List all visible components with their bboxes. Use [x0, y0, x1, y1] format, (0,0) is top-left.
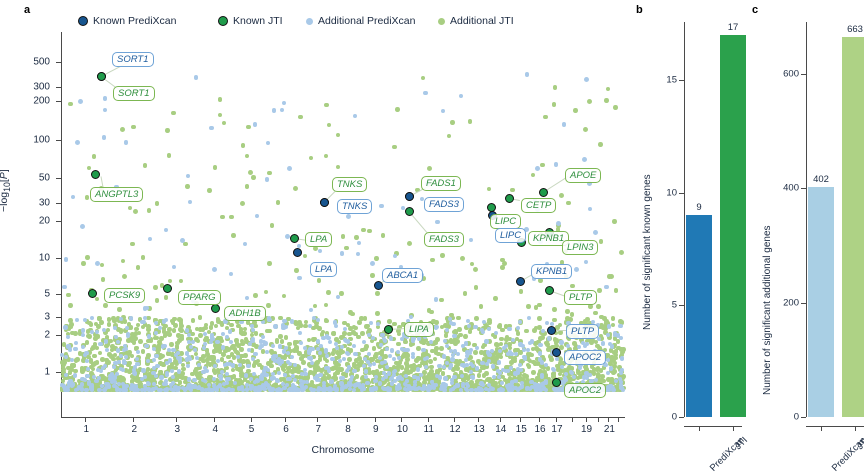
- scatter-point: [459, 94, 463, 98]
- known-gene-point-lipa: [384, 325, 393, 334]
- scatter-point: [588, 304, 593, 309]
- scatter-point: [167, 348, 171, 352]
- scatter-point: [553, 85, 558, 90]
- scatter-point: [406, 353, 411, 358]
- scatter-point: [562, 122, 566, 126]
- known-gene-point-pcsk9: [88, 289, 97, 298]
- scatter-point: [609, 366, 613, 370]
- scatter-point: [191, 318, 196, 323]
- scatter-point: [282, 294, 287, 299]
- scatter-point: [277, 387, 281, 391]
- scatter-point: [307, 349, 311, 353]
- scatter-point: [559, 340, 563, 344]
- scatter-point-outlier: [407, 241, 412, 246]
- scatter-point: [621, 347, 626, 352]
- scatter-point-outlier: [240, 201, 245, 206]
- scatter-point: [117, 307, 122, 312]
- scatter-point: [303, 372, 307, 376]
- scatter-point: [385, 347, 389, 351]
- scatter-point: [126, 332, 130, 336]
- gene-label-apoe-jti: APOE: [565, 168, 601, 183]
- scatter-point: [339, 381, 343, 385]
- scatter-point: [387, 319, 392, 324]
- scatter-point: [519, 289, 524, 294]
- panel-a-manhattan-plot: a Known PrediXcanKnown JTIAdditional Pre…: [0, 0, 632, 469]
- scatter-point: [81, 261, 86, 266]
- scatter-point: [204, 336, 209, 341]
- scatter-point: [102, 135, 106, 139]
- scatter-point: [597, 288, 602, 293]
- x-axis-tick-label: 21: [604, 424, 615, 435]
- scatter-point: [130, 242, 135, 247]
- scatter-point: [241, 143, 246, 148]
- scatter-point: [363, 316, 368, 321]
- gene-label-tnks-jti: TNKS: [332, 177, 367, 192]
- scatter-point-outlier: [212, 267, 217, 272]
- scatter-point: [155, 364, 159, 368]
- gene-label-pltp-px: PLTP: [566, 324, 599, 339]
- scatter-point: [237, 367, 242, 372]
- legend-label: Known PrediXcan: [93, 15, 176, 27]
- bar-jti[interactable]: [842, 37, 864, 417]
- y-axis-tick: [56, 87, 61, 88]
- scatter-point: [529, 353, 534, 358]
- scatter-point: [188, 357, 192, 361]
- scatter-point: [417, 386, 421, 390]
- scatter-point: [330, 357, 334, 361]
- scatter-point: [298, 331, 302, 335]
- scatter-point: [244, 373, 248, 377]
- scatter-point: [81, 333, 85, 337]
- scatter-point: [290, 355, 294, 359]
- y-axis-tick: [679, 305, 684, 306]
- y-axis-tick: [56, 258, 61, 259]
- scatter-point: [97, 316, 102, 321]
- scatter-point: [94, 379, 98, 383]
- scatter-point: [71, 363, 76, 368]
- gene-label-fads1-jti: FADS1: [421, 176, 461, 191]
- scatter-point: [367, 229, 372, 234]
- x-axis-tick: [598, 417, 599, 422]
- scatter-point: [243, 327, 248, 332]
- scatter-point: [516, 326, 520, 330]
- scatter-point: [497, 324, 502, 329]
- scatter-point: [516, 331, 521, 336]
- scatter-point: [105, 348, 109, 352]
- scatter-point: [253, 293, 258, 298]
- scatter-point: [92, 354, 97, 359]
- scatter-point: [143, 306, 147, 310]
- x-axis-tick: [478, 417, 479, 422]
- scatter-point: [378, 356, 382, 360]
- scatter-point: [299, 341, 303, 345]
- legend-item-known-jti: Known JTI: [218, 12, 283, 30]
- scatter-point-outlier: [584, 77, 589, 82]
- known-gene-point-adh1b: [211, 304, 220, 313]
- scatter-point: [249, 377, 253, 381]
- scatter-point: [229, 215, 234, 220]
- scatter-point: [553, 387, 557, 391]
- scatter-point: [356, 335, 361, 340]
- scatter-point: [363, 357, 367, 361]
- scatter-point: [619, 336, 623, 340]
- scatter-point: [153, 336, 158, 341]
- x-axis-tick: [855, 426, 856, 431]
- scatter-point: [336, 165, 341, 170]
- scatter-point: [121, 388, 125, 392]
- bar-value-label-predixcan: 9: [696, 202, 701, 213]
- scatter-point: [518, 363, 522, 367]
- scatter-point: [618, 324, 622, 328]
- scatter-point: [309, 156, 314, 161]
- bar-value-label-predixcan: 402: [813, 174, 829, 185]
- x-axis-title-a: Chromosome: [311, 444, 374, 456]
- legend-item-add-px: Additional PrediXcan: [306, 12, 415, 30]
- scatter-point-outlier: [120, 127, 125, 132]
- scatter-point: [210, 335, 214, 339]
- scatter-point: [164, 295, 169, 300]
- scatter-point: [555, 357, 559, 361]
- y-axis-title-c: Number of significant additional genes: [762, 225, 773, 395]
- scatter-point: [220, 370, 224, 374]
- scatter-point: [173, 323, 178, 328]
- scatter-point: [175, 341, 180, 346]
- scatter-point: [396, 342, 401, 347]
- scatter-point: [213, 364, 217, 368]
- bar-jti[interactable]: [720, 35, 746, 417]
- scatter-point: [536, 387, 540, 391]
- scatter-point: [148, 237, 152, 241]
- scatter-point: [429, 365, 434, 370]
- known-gene-point-abca1: [374, 281, 383, 290]
- scatter-point: [409, 342, 414, 347]
- scatter-point: [264, 290, 269, 295]
- y-axis-tick-label: 10: [0, 253, 50, 264]
- scatter-point: [253, 352, 257, 356]
- x-axis-tick: [618, 417, 619, 422]
- scatter-point: [75, 318, 79, 322]
- x-axis-line-a: [61, 417, 625, 418]
- gene-label-pparg-jti: PPARG: [178, 290, 221, 305]
- scatter-point: [464, 358, 468, 362]
- scatter-point: [85, 255, 90, 260]
- x-axis-tick-label: 11: [424, 424, 434, 435]
- scatter-point: [64, 355, 68, 359]
- scatter-point: [179, 351, 184, 356]
- scatter-point: [269, 388, 273, 392]
- scatter-point: [155, 298, 160, 303]
- scatter-point: [509, 360, 514, 365]
- scatter-point: [98, 342, 102, 346]
- scatter-point: [318, 373, 322, 377]
- scatter-point: [265, 177, 269, 181]
- scatter-point: [269, 363, 274, 368]
- scatter-point: [191, 340, 195, 344]
- scatter-point: [460, 374, 464, 378]
- scatter-point: [230, 388, 234, 392]
- y-axis-tick-label: 200: [0, 96, 50, 107]
- scatter-point: [63, 325, 67, 329]
- scatter-point: [294, 368, 299, 373]
- scatter-point: [397, 356, 401, 360]
- scatter-point: [338, 359, 342, 363]
- scatter-point: [157, 388, 161, 392]
- scatter-point: [160, 354, 165, 359]
- bar-predixcan[interactable]: [686, 215, 712, 417]
- scatter-point: [487, 320, 492, 325]
- known-gene-point-apoc2: [552, 378, 561, 387]
- y-axis-tick-label: 100: [0, 135, 50, 146]
- scatter-point: [434, 325, 438, 329]
- gene-label-lipa-jti: LIPA: [404, 322, 434, 337]
- scatter-point: [282, 386, 286, 390]
- scatter-point: [73, 373, 77, 377]
- bar-predixcan[interactable]: [808, 187, 834, 417]
- scatter-point: [167, 153, 172, 158]
- scatter-point: [416, 356, 421, 361]
- scatter-point: [468, 355, 473, 360]
- scatter-point-outlier: [293, 186, 298, 191]
- scatter-point: [426, 388, 430, 392]
- y-axis-tick-label: 3: [0, 312, 50, 323]
- scatter-point: [494, 331, 498, 335]
- scatter-point: [468, 329, 473, 334]
- scatter-point: [393, 369, 397, 373]
- scatter-point: [245, 154, 250, 159]
- scatter-point: [165, 371, 169, 375]
- scatter-point: [214, 324, 219, 329]
- scatter-point: [612, 369, 617, 374]
- known-gene-point-apoe: [539, 188, 548, 197]
- scatter-point: [124, 347, 128, 351]
- known-gene-point-fads3: [405, 207, 414, 216]
- scatter-point: [607, 324, 611, 328]
- scatter-point: [233, 381, 237, 385]
- scatter-point: [375, 311, 380, 316]
- scatter-point: [480, 328, 484, 332]
- scatter-point: [278, 334, 283, 339]
- x-axis-tick: [133, 417, 134, 422]
- scatter-point: [385, 365, 389, 369]
- x-axis-tick: [214, 417, 215, 422]
- scatter-point: [364, 324, 369, 329]
- scatter-point: [179, 279, 184, 284]
- bar-value-label-jti: 663: [847, 24, 863, 35]
- scatter-point: [318, 357, 323, 362]
- scatter-point: [531, 173, 536, 178]
- scatter-point: [612, 350, 617, 355]
- scatter-point: [234, 338, 239, 343]
- scatter-point: [279, 360, 283, 364]
- scatter-point: [178, 356, 182, 360]
- scatter-point: [212, 377, 216, 381]
- scatter-point: [354, 235, 359, 240]
- scatter-point: [469, 388, 473, 392]
- scatter-point: [520, 384, 524, 388]
- scatter-point: [136, 323, 141, 328]
- scatter-point: [364, 369, 368, 373]
- legend-label: Additional PrediXcan: [318, 15, 415, 27]
- panel-c-letter: c: [752, 4, 758, 16]
- scatter-point: [318, 351, 322, 355]
- scatter-point: [402, 348, 406, 352]
- y-axis-tick-label: 0: [766, 412, 799, 423]
- x-axis-tick: [733, 426, 734, 431]
- scatter-point: [281, 366, 286, 371]
- scatter-point: [554, 162, 558, 166]
- scatter-point: [613, 105, 618, 110]
- scatter-point: [282, 101, 286, 105]
- y-axis-tick: [56, 221, 61, 222]
- scatter-point: [152, 358, 156, 362]
- x-axis-tick: [454, 417, 455, 422]
- scatter-point: [577, 345, 581, 349]
- x-axis-tick-label: 5: [249, 424, 255, 435]
- known-gene-point-pltp: [545, 286, 554, 295]
- scatter-point: [494, 342, 499, 347]
- scatter-point: [440, 253, 445, 258]
- scatter-point: [210, 321, 215, 326]
- scatter-point: [430, 258, 435, 263]
- scatter-point: [106, 328, 111, 333]
- scatter-point: [83, 353, 87, 357]
- scatter-point-outlier: [574, 267, 579, 272]
- y-axis-tick: [56, 62, 61, 63]
- scatter-point: [453, 349, 457, 353]
- scatter-point: [484, 339, 488, 343]
- scatter-point: [243, 353, 248, 358]
- y-axis-tick: [56, 317, 61, 318]
- scatter-point: [525, 72, 529, 76]
- x-axis-tick: [572, 417, 573, 422]
- known-gene-point-angptl3: [91, 170, 100, 179]
- y-axis-tick: [679, 417, 684, 418]
- scatter-point: [540, 163, 545, 168]
- scatter-point: [317, 326, 322, 331]
- scatter-point: [570, 284, 575, 289]
- y-axis-tick: [801, 303, 806, 304]
- gene-label-fads3-px: FADS3: [424, 197, 464, 212]
- scatter-point: [379, 204, 383, 208]
- y-axis-tick-label: 20: [0, 216, 50, 227]
- legend: Known PrediXcanKnown JTIAdditional Predi…: [78, 12, 628, 30]
- scatter-point: [533, 341, 538, 346]
- scatter-point: [588, 373, 592, 377]
- scatter-point: [203, 342, 207, 346]
- scatter-point: [487, 187, 492, 192]
- scatter-point: [228, 329, 232, 333]
- scatter-point: [188, 384, 192, 388]
- scatter-point: [93, 336, 98, 341]
- scatter-point: [578, 366, 582, 370]
- scatter-point: [245, 184, 250, 189]
- scatter-point: [448, 317, 452, 321]
- scatter-point: [340, 345, 344, 349]
- x-axis-tick-label: 15: [516, 424, 527, 435]
- scatter-point-outlier: [502, 261, 507, 266]
- scatter-point: [484, 371, 489, 376]
- scatter-point: [588, 207, 592, 211]
- panel-c-additional-genes-bar: c 0200400600Number of significant additi…: [748, 0, 864, 469]
- scatter-point: [582, 375, 586, 379]
- scatter-point: [433, 357, 438, 362]
- scatter-point: [229, 272, 233, 276]
- x-axis-tick-label: 2: [131, 424, 137, 435]
- scatter-point: [542, 381, 546, 385]
- scatter-point: [113, 375, 117, 379]
- scatter-point: [162, 344, 166, 348]
- gene-label-lipc-px: LIPC: [495, 228, 526, 243]
- scatter-point: [434, 297, 438, 301]
- scatter-point: [325, 354, 329, 358]
- y-axis-tick: [56, 294, 61, 295]
- scatter-point: [159, 375, 163, 379]
- scatter-point-outlier: [180, 238, 185, 243]
- scatter-point: [392, 145, 397, 150]
- scatter-point: [297, 276, 301, 280]
- y-axis-tick: [56, 335, 61, 336]
- y-axis-tick: [801, 74, 806, 75]
- scatter-point: [225, 372, 229, 376]
- scatter-point: [280, 108, 284, 112]
- scatter-point: [444, 333, 449, 338]
- scatter-point: [87, 334, 92, 339]
- scatter-point: [315, 377, 319, 381]
- scatter-point: [357, 241, 361, 245]
- scatter-point: [434, 340, 439, 345]
- scatter-point: [101, 366, 105, 370]
- scatter-point-outlier: [535, 166, 540, 171]
- x-axis-tick: [500, 417, 501, 422]
- scatter-point: [138, 339, 143, 344]
- scatter-point: [188, 200, 192, 204]
- panel-b-letter: b: [636, 4, 643, 16]
- scatter-point: [245, 296, 249, 300]
- scatter-point: [103, 108, 107, 112]
- scatter-point: [62, 285, 66, 289]
- scatter-point: [219, 377, 223, 381]
- scatter-point-outlier: [133, 209, 138, 214]
- scatter-point: [110, 380, 114, 384]
- scatter-point: [452, 334, 456, 338]
- scatter-point: [340, 350, 345, 355]
- known-gene-point-lpa: [290, 234, 299, 243]
- scatter-point: [463, 334, 468, 339]
- scatter-point: [524, 329, 529, 334]
- y-axis-tick: [56, 178, 61, 179]
- scatter-point: [86, 367, 90, 371]
- scatter-point: [613, 356, 618, 361]
- scatter-point: [510, 380, 514, 384]
- scatter-point: [417, 336, 421, 340]
- x-axis-tick: [375, 417, 376, 422]
- scatter-point: [97, 388, 101, 392]
- scatter-point: [325, 319, 330, 324]
- scatter-point: [146, 316, 151, 321]
- x-axis-tick: [586, 417, 587, 422]
- scatter-point: [298, 115, 303, 120]
- scatter-point-outlier: [122, 274, 127, 279]
- scatter-point: [327, 123, 332, 128]
- scatter-point: [119, 317, 123, 321]
- scatter-point: [454, 364, 459, 369]
- scatter-point: [522, 373, 527, 378]
- scatter-point: [490, 349, 494, 353]
- scatter-point: [294, 268, 299, 273]
- scatter-point-outlier: [473, 267, 478, 272]
- x-axis-tick: [317, 417, 318, 422]
- scatter-point: [347, 365, 351, 369]
